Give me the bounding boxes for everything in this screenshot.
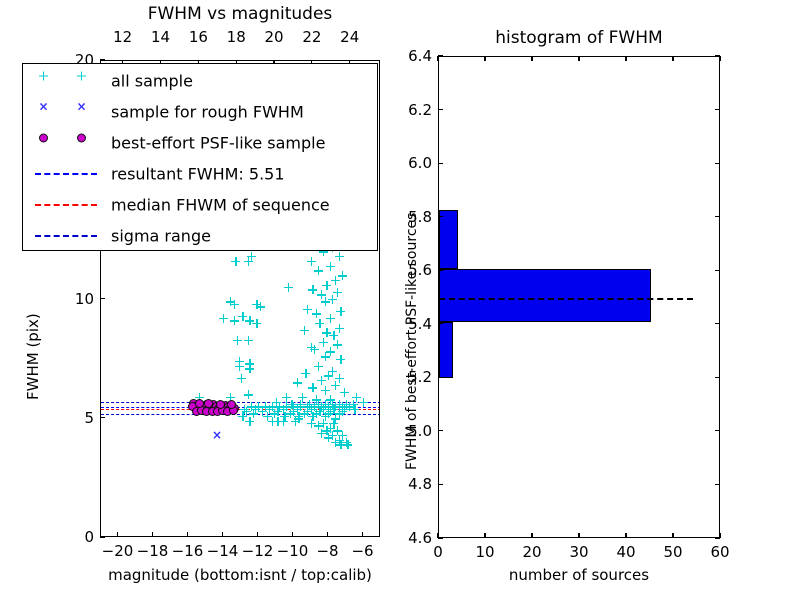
right-xaxis-label: number of sources <box>438 566 720 584</box>
xtick-bottom <box>187 532 188 537</box>
legend-box: all sample××sample for rough FWHMbest-ef… <box>22 63 378 251</box>
ytick-hist-right <box>715 216 720 217</box>
marker-all-sample <box>237 374 246 383</box>
xtick-bottom <box>222 532 223 537</box>
yticklabel-hist: 5.4 <box>386 315 432 333</box>
xticklabel-bottom: −14 <box>207 542 239 560</box>
yticklabel-hist: 6.0 <box>386 154 432 172</box>
marker-all-sample <box>314 362 323 371</box>
yticklabel-hist: 5.8 <box>386 208 432 226</box>
legend-item-label: all sample <box>111 71 193 90</box>
ytick-hist <box>438 55 443 56</box>
marker-all-sample <box>307 257 316 266</box>
median-fwhm-line <box>439 298 693 300</box>
marker-all-sample <box>244 257 253 266</box>
ytick-left <box>100 59 105 60</box>
xticklabel-bottom: −6 <box>351 542 373 560</box>
yticklabel-left: 0 <box>58 528 94 546</box>
marker-all-sample <box>300 326 309 335</box>
ytick-left <box>100 536 105 537</box>
xticklabel-top: 16 <box>189 28 208 46</box>
xtick-hist-top <box>672 56 673 61</box>
ytick-hist <box>438 163 443 164</box>
marker-all-sample <box>359 398 368 407</box>
marker-all-sample <box>335 252 344 261</box>
left-xaxis-label: magnitude (bottom:isnt / top:calib) <box>100 566 380 584</box>
xticklabel-top: 12 <box>113 28 132 46</box>
marker-all-sample <box>244 336 253 345</box>
legend-item: best-effort PSF-like sample <box>23 127 377 158</box>
marker-all-sample <box>336 355 345 364</box>
marker-all-sample <box>238 312 247 321</box>
marker-all-sample <box>279 417 288 426</box>
xticklabel-hist: 40 <box>616 543 635 561</box>
yticklabel-hist: 4.8 <box>386 475 432 493</box>
marker-all-sample <box>322 281 331 290</box>
ytick-hist-right <box>715 55 720 56</box>
xtick-bottom <box>362 532 363 537</box>
ytick-hist-right <box>715 484 720 485</box>
xticklabel-hist: 50 <box>663 543 682 561</box>
xtick-hist <box>672 533 673 538</box>
ytick-left <box>100 417 105 418</box>
xticklabel-bottom: −8 <box>316 542 338 560</box>
ytick-hist <box>438 484 443 485</box>
xticklabel-hist: 30 <box>569 543 588 561</box>
marker-all-sample <box>293 378 302 387</box>
filled-circle-icon <box>77 134 86 143</box>
right-plot-title: histogram of FWHM <box>438 28 720 48</box>
marker-all-sample <box>301 369 310 378</box>
legend-item: resultant FWHM: 5.51 <box>23 158 377 189</box>
marker-all-sample <box>245 364 254 373</box>
marker-all-sample <box>321 386 330 395</box>
xtick-bottom <box>292 532 293 537</box>
marker-all-sample <box>336 440 345 449</box>
legend-item-label: sigma range <box>111 226 211 245</box>
marker-all-sample <box>233 336 242 345</box>
xtick-bottom <box>117 532 118 537</box>
yticklabel-hist: 4.6 <box>386 529 432 547</box>
xtick-bottom <box>152 532 153 537</box>
xticklabel-top: 20 <box>265 28 284 46</box>
marker-all-sample <box>219 314 228 323</box>
ytick-hist-right <box>715 163 720 164</box>
xtick-hist <box>578 533 579 538</box>
xticklabel-bottom: −12 <box>242 542 274 560</box>
dashed-line-red-icon <box>35 204 97 206</box>
yticklabel-hist: 6.2 <box>386 101 432 119</box>
yticklabel-left: 5 <box>58 409 94 427</box>
marker-all-sample <box>268 417 277 426</box>
xtick-hist <box>484 533 485 538</box>
xtick-bottom <box>257 532 258 537</box>
marker-all-sample <box>256 302 265 311</box>
ytick-hist-right <box>715 430 720 431</box>
xticklabel-hist: 60 <box>710 543 729 561</box>
marker-all-sample <box>252 319 261 328</box>
histogram-bar <box>439 210 458 269</box>
legend-item-label: sample for rough FWHM <box>111 102 304 121</box>
ytick-hist <box>438 109 443 110</box>
ytick-hist <box>438 323 443 324</box>
filled-circle-icon <box>39 134 48 143</box>
marker-all-sample <box>326 314 335 323</box>
marker-all-sample <box>231 257 240 266</box>
xticklabel-bottom: −20 <box>102 542 134 560</box>
xticklabel-hist: 10 <box>475 543 494 561</box>
marker-all-sample <box>226 297 235 306</box>
xtick-hist-top <box>531 56 532 61</box>
marker-all-sample <box>294 414 303 423</box>
marker-all-sample <box>303 305 312 314</box>
legend-item: median FHWM of sequence <box>23 189 377 220</box>
yticklabel-hist: 5.0 <box>386 422 432 440</box>
marker-all-sample <box>310 345 319 354</box>
cross-icon: × <box>39 103 48 112</box>
xticklabel-bottom: −10 <box>277 542 309 560</box>
yticklabel-hist: 5.2 <box>386 368 432 386</box>
xtick-hist <box>531 533 532 538</box>
legend-item: ××sample for rough FWHM <box>23 96 377 127</box>
marker-all-sample <box>244 390 253 399</box>
ytick-hist <box>438 537 443 538</box>
marker-all-sample <box>312 309 321 318</box>
ytick-hist-right <box>715 323 720 324</box>
ytick-hist <box>438 270 443 271</box>
xticklabel-bottom: −16 <box>172 542 204 560</box>
yticklabel-left: 10 <box>58 290 94 308</box>
histogram-bar <box>439 269 651 323</box>
plus-icon <box>39 72 48 81</box>
marker-all-sample <box>284 283 293 292</box>
marker-all-sample <box>321 297 330 306</box>
left-yaxis-label: FWHM (pix) <box>24 313 42 400</box>
xticklabel-top: 22 <box>302 28 321 46</box>
histogram-bar <box>439 322 453 378</box>
xticklabel-top: 18 <box>227 28 246 46</box>
ytick-hist-right <box>715 109 720 110</box>
yticklabel-hist: 5.6 <box>386 261 432 279</box>
dashed-line-blue-icon <box>35 173 97 175</box>
ytick-hist-right <box>715 537 720 538</box>
ytick-hist-right <box>715 270 720 271</box>
xticklabel-bottom: −18 <box>137 542 169 560</box>
plus-icon <box>77 72 86 81</box>
ytick-hist-right <box>715 377 720 378</box>
marker-all-sample <box>315 319 324 328</box>
marker-all-sample <box>245 417 254 426</box>
marker-all-sample <box>319 338 328 347</box>
marker-all-sample <box>350 405 359 414</box>
xtick-hist-top <box>578 56 579 61</box>
legend-item-label: best-effort PSF-like sample <box>111 133 325 152</box>
xticklabel-hist: 20 <box>522 543 541 561</box>
xtick-hist-top <box>625 56 626 61</box>
legend-item: all sample <box>23 65 377 96</box>
dashdot-line-blue-icon <box>35 235 97 237</box>
xtick-bottom <box>327 532 328 537</box>
xtick-hist-top <box>437 56 438 61</box>
marker-all-sample <box>314 266 323 275</box>
marker-all-sample <box>336 307 345 316</box>
figure-canvas: FWHM vs magnitudes × magnitude (bottom:i… <box>0 0 800 600</box>
ytick-hist <box>438 430 443 431</box>
marker-all-sample <box>329 331 338 340</box>
xtick-hist <box>625 533 626 538</box>
ytick-hist <box>438 377 443 378</box>
xticklabel-hist: 0 <box>433 543 443 561</box>
cross-icon: × <box>77 103 86 112</box>
marker-rough-sample: × <box>212 431 221 440</box>
marker-all-sample <box>326 262 335 271</box>
ytick-left <box>100 298 105 299</box>
legend-item: sigma range <box>23 220 377 251</box>
marker-all-sample <box>235 357 244 366</box>
marker-all-sample <box>308 285 317 294</box>
xtick-hist-top <box>719 56 720 61</box>
yticklabel-hist: 6.4 <box>386 47 432 65</box>
marker-all-sample <box>331 381 340 390</box>
legend-item-label: median FHWM of sequence <box>111 195 330 214</box>
legend-item-label: resultant FWHM: 5.51 <box>111 164 285 183</box>
marker-all-sample <box>317 376 326 385</box>
histogram-of-fwhm-axes <box>438 56 720 538</box>
right-plot-data-area <box>439 57 719 537</box>
marker-all-sample <box>230 316 239 325</box>
xtick-hist-top <box>484 56 485 61</box>
marker-all-sample <box>308 383 317 392</box>
xticklabel-top: 24 <box>340 28 359 46</box>
marker-all-sample <box>321 352 330 361</box>
marker-all-sample <box>340 388 349 397</box>
ytick-hist <box>438 216 443 217</box>
xticklabel-top: 14 <box>151 28 170 46</box>
marker-all-sample <box>331 276 340 285</box>
left-plot-title: FWHM vs magnitudes <box>100 4 380 24</box>
